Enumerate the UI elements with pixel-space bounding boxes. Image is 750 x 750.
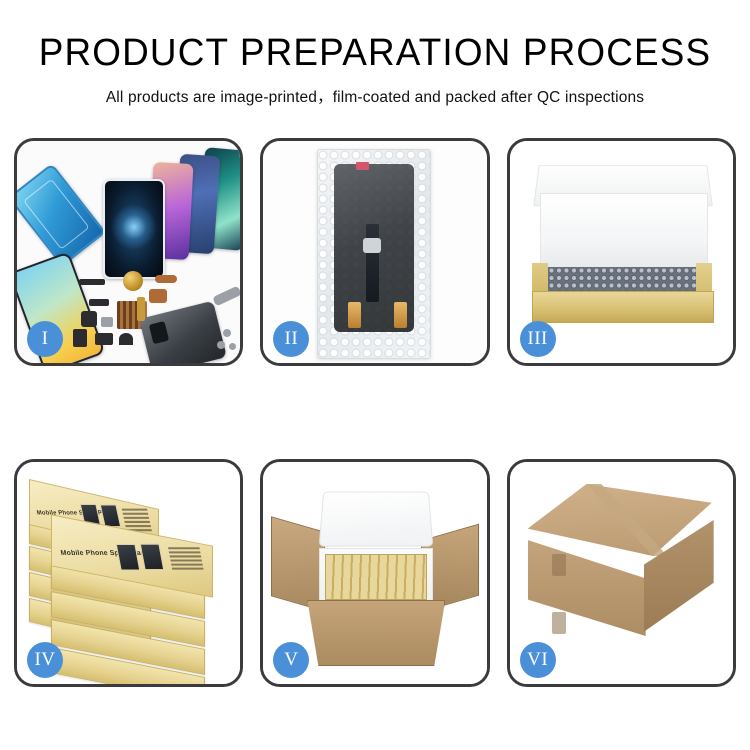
gold-contact-left	[348, 302, 361, 328]
carton-handle-notch-top	[552, 554, 566, 576]
panel-boxed-stack: Mobile Phone Spare Parts Mobile	[14, 459, 243, 687]
process-step-grid: I II	[14, 138, 736, 687]
screw-part-2	[217, 341, 225, 349]
step-badge-1: I	[27, 321, 63, 357]
gold-contact-part	[137, 297, 145, 321]
step-badge-3: III	[520, 321, 556, 357]
panel-sealed-carton: VI	[507, 459, 736, 687]
panel-bubble-wrapped-screen: II	[260, 138, 489, 366]
bracket-part	[89, 299, 109, 306]
flex-cable-part	[155, 275, 177, 283]
connector-chip	[363, 238, 381, 253]
product-preparation-infographic: PRODUCT PREPARATION PROCESS All products…	[0, 0, 750, 750]
speaker-mesh-part	[123, 271, 143, 291]
page-subtitle: All products are image-printed，film-coat…	[0, 85, 750, 107]
flex-cable	[366, 224, 379, 302]
battery-connector-part	[73, 329, 87, 347]
earpiece-part	[79, 279, 105, 285]
tempered-glass-screen	[103, 179, 165, 279]
box-phone-thumb-c	[116, 544, 141, 570]
box-front-panel	[532, 291, 714, 323]
box-spec-lines-front	[168, 547, 204, 571]
carton-front-panel	[307, 600, 445, 666]
white-foam-sheet	[540, 193, 708, 273]
red-label-sticker	[356, 162, 369, 170]
camera-module-part	[81, 311, 97, 327]
foam-cooler-lid	[319, 492, 434, 547]
yellow-boxes-inside	[325, 554, 427, 600]
carton-flap-left	[271, 516, 325, 611]
screw-part-3	[229, 343, 236, 350]
panel-raw-parts: I	[14, 138, 243, 366]
carton-handle-notch-bottom	[552, 612, 566, 634]
box-phone-thumb-d	[140, 544, 165, 570]
flex-cable-part-2	[149, 289, 167, 303]
vibrator-part	[95, 333, 113, 345]
gold-contact-right	[394, 302, 407, 328]
page-title: PRODUCT PREPARATION PROCESS	[11, 34, 739, 72]
step-badge-4: IV	[27, 642, 63, 678]
button-part	[119, 333, 133, 345]
bubble-wrap-bag	[317, 149, 431, 359]
step-badge-6: VI	[520, 642, 556, 678]
header: PRODUCT PREPARATION PROCESS All products…	[0, 0, 750, 107]
metal-shield-part	[101, 317, 113, 327]
panel-foam-inner-box: III	[507, 138, 736, 366]
screw-part	[223, 329, 231, 337]
panel-carton-loading: V	[260, 459, 489, 687]
